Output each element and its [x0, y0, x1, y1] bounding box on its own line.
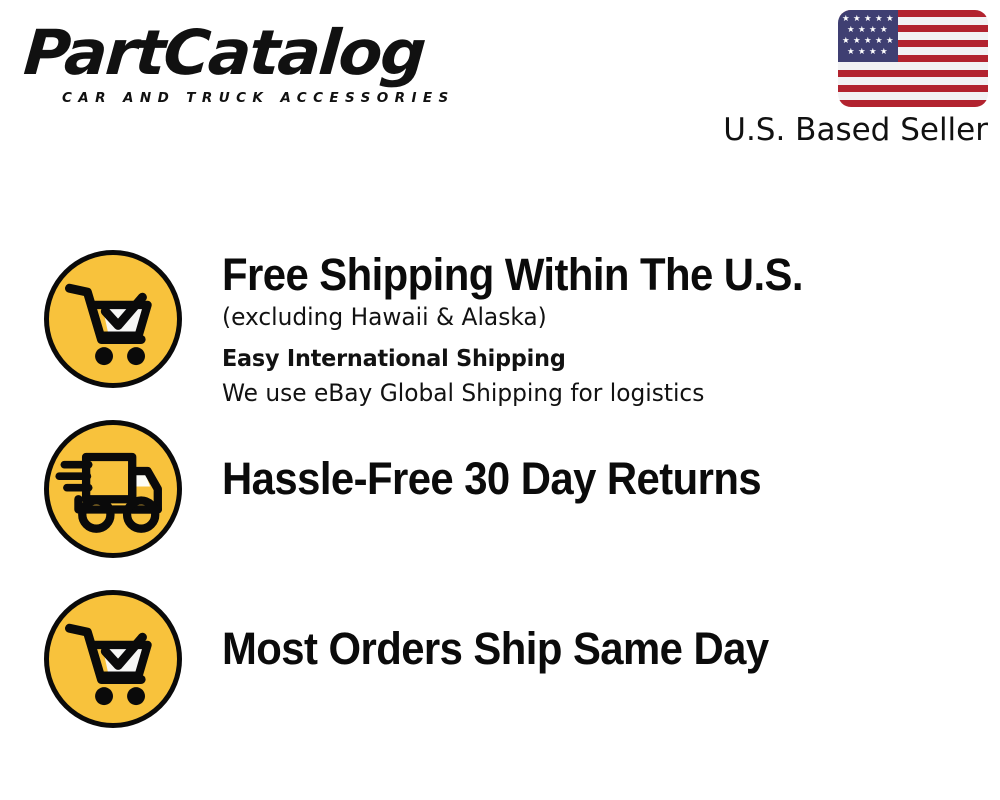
- brand-wordmark: PartCatalog: [22, 22, 511, 84]
- flag-canton: ★ ★ ★ ★ ★ ★ ★ ★ ★ ★ ★ ★ ★ ★ ★ ★ ★ ★: [838, 10, 898, 62]
- feature-text-block: Free Shipping Within The U.S. (excluding…: [222, 250, 992, 410]
- feature-subline: Easy International Shipping: [222, 342, 969, 376]
- us-based-seller-badge: ★ ★ ★ ★ ★ ★ ★ ★ ★ ★ ★ ★ ★ ★ ★ ★ ★ ★ U.S.…: [718, 10, 988, 148]
- shopping-cart-check-icon: [44, 590, 182, 728]
- brand-logo[interactable]: PartCatalog CAR AND TRUCK ACCESSORIES: [24, 22, 494, 117]
- us-flag-icon: ★ ★ ★ ★ ★ ★ ★ ★ ★ ★ ★ ★ ★ ★ ★ ★ ★ ★: [838, 10, 988, 107]
- feature-title: Most Orders Ship Same Day: [222, 624, 938, 674]
- us-based-seller-label: U.S. Based Seller: [718, 112, 988, 148]
- feature-text-block: Hassle-Free 30 Day Returns: [222, 454, 992, 504]
- brand-tagline: CAR AND TRUCK ACCESSORIES: [62, 90, 455, 106]
- delivery-truck-icon: [44, 420, 182, 558]
- feature-title: Hassle-Free 30 Day Returns: [222, 454, 938, 504]
- feature-title: Free Shipping Within The U.S.: [222, 250, 938, 300]
- shopping-cart-check-icon: [44, 250, 182, 388]
- spacer: [222, 334, 992, 342]
- feature-text-block: Most Orders Ship Same Day: [222, 624, 992, 674]
- feature-subline: (excluding Hawaii & Alaska): [222, 300, 969, 334]
- page-header: PartCatalog CAR AND TRUCK ACCESSORIES ★ …: [0, 0, 1000, 175]
- feature-subline: We use eBay Global Shipping for logistic…: [222, 376, 969, 410]
